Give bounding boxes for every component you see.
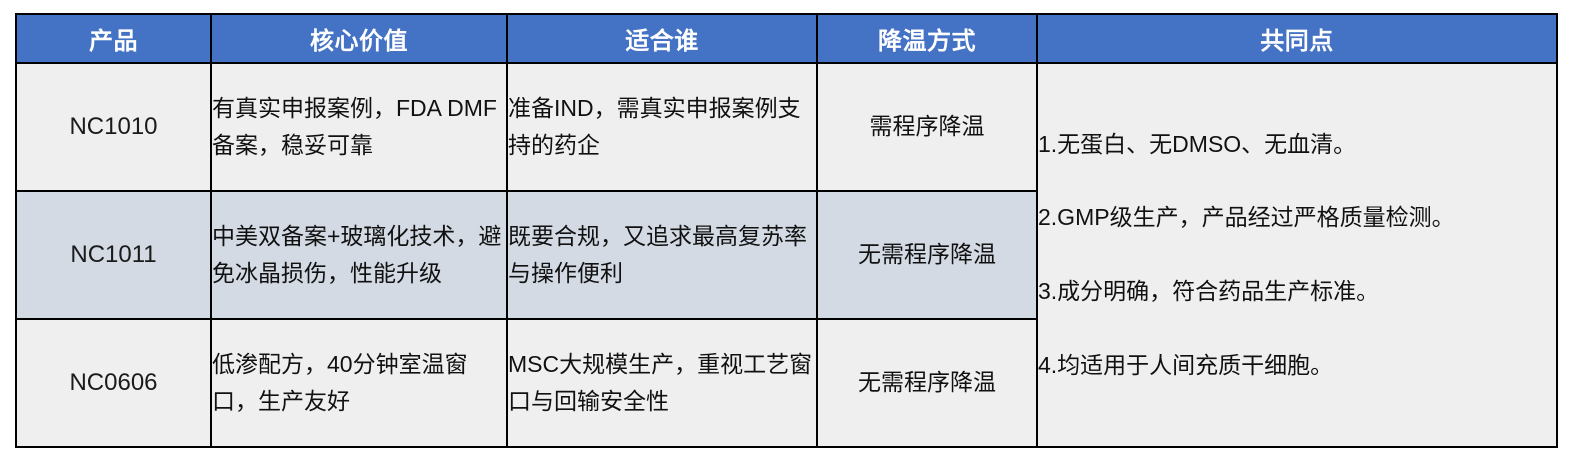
cell-product-nc1010: NC1010	[16, 63, 211, 191]
common-point-2: 2.GMP级生产，产品经过严格质量检测。	[1038, 200, 1556, 236]
comparison-table-page: 产品 核心价值 适合谁 降温方式 共同点 NC1010 有真实申报案例，FDA …	[0, 0, 1572, 462]
column-header-common-points: 共同点	[1037, 14, 1557, 63]
common-point-1: 1.无蛋白、无DMSO、无血清。	[1038, 127, 1556, 163]
header-row: 产品 核心价值 适合谁 降温方式 共同点	[16, 14, 1557, 63]
cell-core-value-nc1011: 中美双备案+玻璃化技术，避免冰晶损伤，性能升级	[211, 191, 507, 319]
table-row: NC1010 有真实申报案例，FDA DMF备案，稳妥可靠 准备IND，需真实申…	[16, 63, 1557, 191]
cell-cooling-method-nc1010: 需程序降温	[817, 63, 1037, 191]
cell-suitable-for-nc0606: MSC大规模生产，重视工艺窗口与回输安全性	[507, 319, 817, 447]
cell-cooling-method-nc0606: 无需程序降温	[817, 319, 1037, 447]
cell-core-value-nc1010: 有真实申报案例，FDA DMF备案，稳妥可靠	[211, 63, 507, 191]
common-point-3: 3.成分明确，符合药品生产标准。	[1038, 274, 1556, 310]
table-body: NC1010 有真实申报案例，FDA DMF备案，稳妥可靠 准备IND，需真实申…	[16, 63, 1557, 447]
cell-core-value-nc0606: 低渗配方，40分钟室温窗口，生产友好	[211, 319, 507, 447]
cell-common-points: 1.无蛋白、无DMSO、无血清。 2.GMP级生产，产品经过严格质量检测。 3.…	[1037, 63, 1557, 447]
product-comparison-table: 产品 核心价值 适合谁 降温方式 共同点 NC1010 有真实申报案例，FDA …	[15, 13, 1558, 448]
common-point-4: 4.均适用于人间充质干细胞。	[1038, 348, 1556, 384]
column-header-core-value: 核心价值	[211, 14, 507, 63]
column-header-cooling-method: 降温方式	[817, 14, 1037, 63]
cell-cooling-method-nc1011: 无需程序降温	[817, 191, 1037, 319]
cell-suitable-for-nc1011: 既要合规，又追求最高复苏率与操作便利	[507, 191, 817, 319]
cell-suitable-for-nc1010: 准备IND，需真实申报案例支持的药企	[507, 63, 817, 191]
cell-product-nc0606: NC0606	[16, 319, 211, 447]
table-header: 产品 核心价值 适合谁 降温方式 共同点	[16, 14, 1557, 63]
column-header-product: 产品	[16, 14, 211, 63]
column-header-suitable-for: 适合谁	[507, 14, 817, 63]
cell-product-nc1011: NC1011	[16, 191, 211, 319]
